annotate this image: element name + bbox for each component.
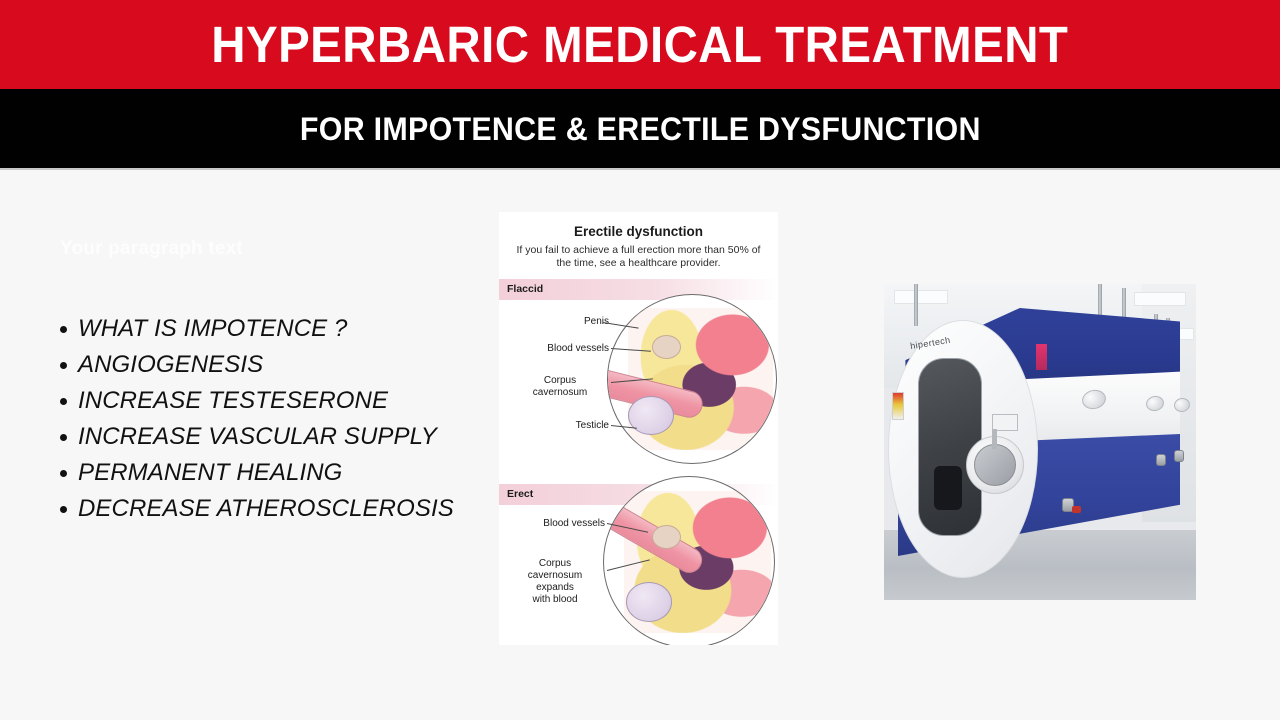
chamber-interior-seat: [934, 466, 962, 510]
erectile-dysfunction-diagram: Erectile dysfunction If you fail to achi…: [499, 212, 778, 645]
chamber-warning-sticker: [1036, 344, 1047, 370]
list-item: INCREASE TESTESERONE: [64, 384, 494, 418]
testicle-shape: [628, 396, 674, 435]
hyperbaric-chamber-photo: hipertech: [884, 284, 1196, 600]
ceiling-light: [894, 290, 948, 304]
chamber-door-wheel: [974, 444, 1016, 486]
paragraph-placeholder: Your paragraph text: [60, 238, 243, 260]
diagram-label-blood-vessels-erect: Blood vessels: [501, 518, 605, 530]
benefits-list: WHAT IS IMPOTENCE ? ANGIOGENESIS INCREAS…: [34, 312, 494, 528]
glans-shape: [652, 525, 681, 549]
list-item: INCREASE VASCULAR SUPPLY: [64, 420, 494, 454]
section-header-flaccid: Flaccid: [499, 279, 778, 300]
diagram-label-blood-vessels: Blood vessels: [505, 343, 609, 355]
list-item: DECREASE ATHEROSCLEROSIS: [64, 492, 494, 526]
page-subtitle: FOR IMPOTENCE & ERECTILE DYSFUNCTION: [300, 113, 981, 145]
title-banner: HYPERBARIC MEDICAL TREATMENT: [0, 0, 1280, 89]
list-item: WHAT IS IMPOTENCE ?: [64, 312, 494, 346]
chamber-valve: [1156, 454, 1166, 466]
slide-canvas: HYPERBARIC MEDICAL TREATMENT FOR IMPOTEN…: [0, 0, 1280, 720]
chamber-red-valve: [1072, 506, 1081, 513]
diagram-label-corpus-cavernosum: Corpus cavernosum: [511, 375, 609, 399]
header-divider: [0, 168, 1280, 170]
section-label: Erect: [507, 488, 533, 500]
glans-shape: [652, 335, 681, 359]
list-item: PERMANENT HEALING: [64, 456, 494, 490]
diagram-label-penis: Penis: [561, 316, 609, 328]
chamber-valve: [1174, 450, 1184, 462]
diagram-subtitle: If you fail to achieve a full erection m…: [499, 244, 778, 269]
anatomy-illustration-erect: [603, 476, 775, 645]
ceiling-light: [1134, 292, 1186, 306]
anatomy-illustration-flaccid: [607, 294, 777, 464]
ceiling-pipe: [914, 284, 918, 326]
section-label: Flaccid: [507, 283, 543, 295]
testicle-shape: [626, 582, 672, 621]
diagram-label-corpus-expands: Corpus cavernosum expands with blood: [505, 558, 605, 606]
page-title: HYPERBARIC MEDICAL TREATMENT: [211, 19, 1068, 70]
diagram-label-testicle: Testicle: [525, 420, 609, 432]
subtitle-banner: FOR IMPOTENCE & ERECTILE DYSFUNCTION: [0, 89, 1280, 168]
chamber-caution-label: [892, 392, 904, 420]
diagram-title: Erectile dysfunction: [499, 224, 778, 239]
list-item: ANGIOGENESIS: [64, 348, 494, 382]
